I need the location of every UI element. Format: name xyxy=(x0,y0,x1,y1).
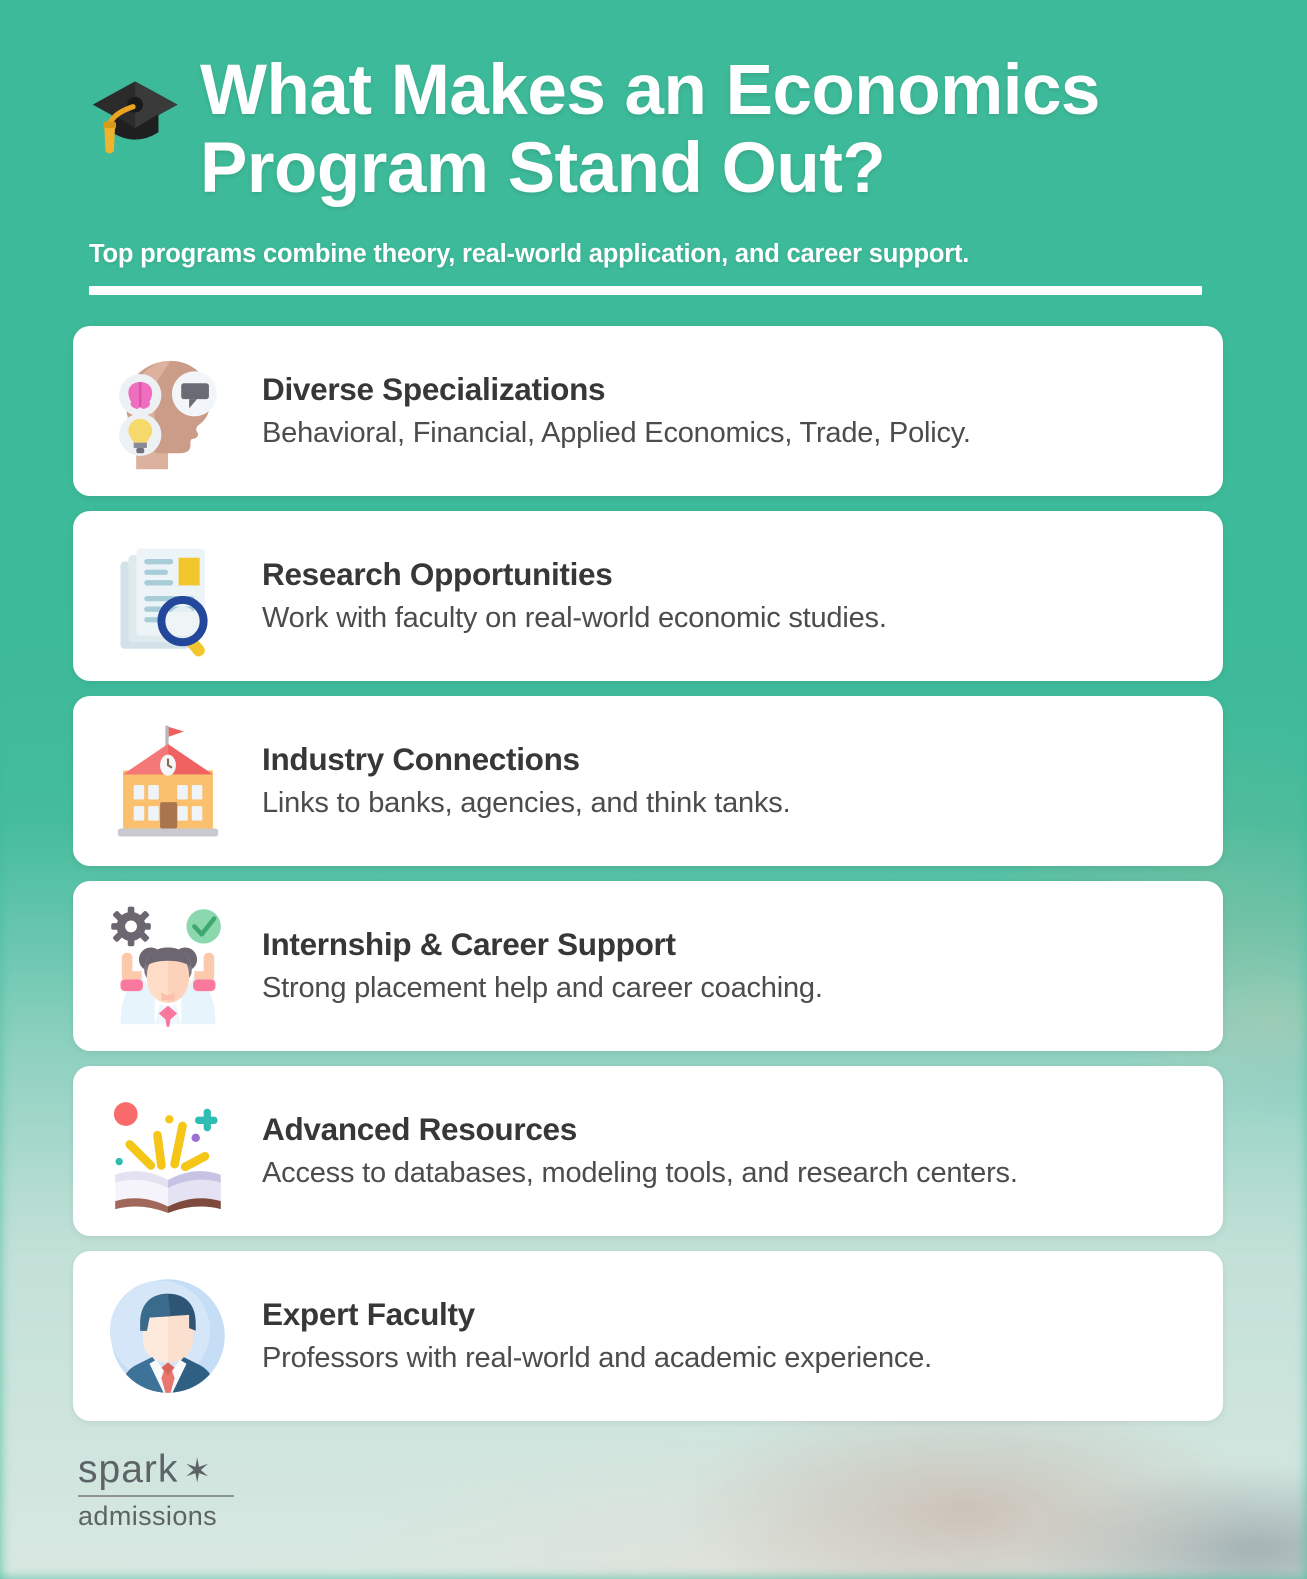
card-text: Internship & Career Support Strong place… xyxy=(262,927,823,1005)
feature-card[interactable]: Internship & Career Support Strong place… xyxy=(73,881,1223,1051)
card-description: Strong placement help and career coachin… xyxy=(262,971,823,1005)
header: What Makes an Economics Program Stand Ou… xyxy=(0,0,1307,295)
card-description: Links to banks, agencies, and think tank… xyxy=(262,786,790,820)
logo-divider xyxy=(78,1495,234,1497)
card-description: Professors with real-world and academic … xyxy=(262,1341,932,1375)
professor-avatar-icon xyxy=(95,1264,240,1409)
feature-card[interactable]: Expert Faculty Professors with real-worl… xyxy=(73,1251,1223,1421)
person-gear-check-icon xyxy=(95,894,240,1039)
page-subtitle: Top programs combine theory, real-world … xyxy=(89,240,1227,269)
graduation-cap-icon xyxy=(80,58,186,164)
documents-magnifier-icon xyxy=(95,524,240,669)
card-text: Research Opportunities Work with faculty… xyxy=(262,557,887,635)
logo-brand-text: spark xyxy=(78,1448,178,1492)
card-title: Expert Faculty xyxy=(262,1297,932,1332)
spark-star-icon: ✶ xyxy=(183,1451,211,1490)
card-text: Industry Connections Links to banks, age… xyxy=(262,742,790,820)
head-with-ideas-icon xyxy=(95,339,240,484)
feature-card[interactable]: Diverse Specializations Behavioral, Fina… xyxy=(73,326,1223,496)
school-building-icon xyxy=(95,709,240,854)
card-title: Research Opportunities xyxy=(262,557,887,592)
card-text: Advanced Resources Access to databases, … xyxy=(262,1112,1018,1190)
card-title: Industry Connections xyxy=(262,742,790,777)
logo-wordmark: spark ✶ xyxy=(78,1448,1307,1492)
open-book-sparkles-icon xyxy=(95,1079,240,1224)
page-title: What Makes an Economics Program Stand Ou… xyxy=(200,52,1227,208)
card-text: Diverse Specializations Behavioral, Fina… xyxy=(262,372,971,450)
infographic-page: What Makes an Economics Program Stand Ou… xyxy=(0,0,1307,1532)
card-text: Expert Faculty Professors with real-worl… xyxy=(262,1297,932,1375)
card-title: Internship & Career Support xyxy=(262,927,823,962)
feature-card[interactable]: Industry Connections Links to banks, age… xyxy=(73,696,1223,866)
card-description: Behavioral, Financial, Applied Economics… xyxy=(262,416,971,450)
card-title: Advanced Resources xyxy=(262,1112,1018,1147)
feature-card[interactable]: Research Opportunities Work with faculty… xyxy=(73,511,1223,681)
logo-subtext: admissions xyxy=(78,1501,1307,1532)
card-title: Diverse Specializations xyxy=(262,372,971,407)
footer-logo[interactable]: spark ✶ admissions xyxy=(78,1448,1307,1532)
feature-card[interactable]: Advanced Resources Access to databases, … xyxy=(73,1066,1223,1236)
card-description: Access to databases, modeling tools, and… xyxy=(262,1156,1018,1190)
header-divider xyxy=(89,286,1202,295)
title-row: What Makes an Economics Program Stand Ou… xyxy=(80,52,1227,208)
feature-card-list: Diverse Specializations Behavioral, Fina… xyxy=(73,326,1223,1421)
card-description: Work with faculty on real-world economic… xyxy=(262,601,887,635)
